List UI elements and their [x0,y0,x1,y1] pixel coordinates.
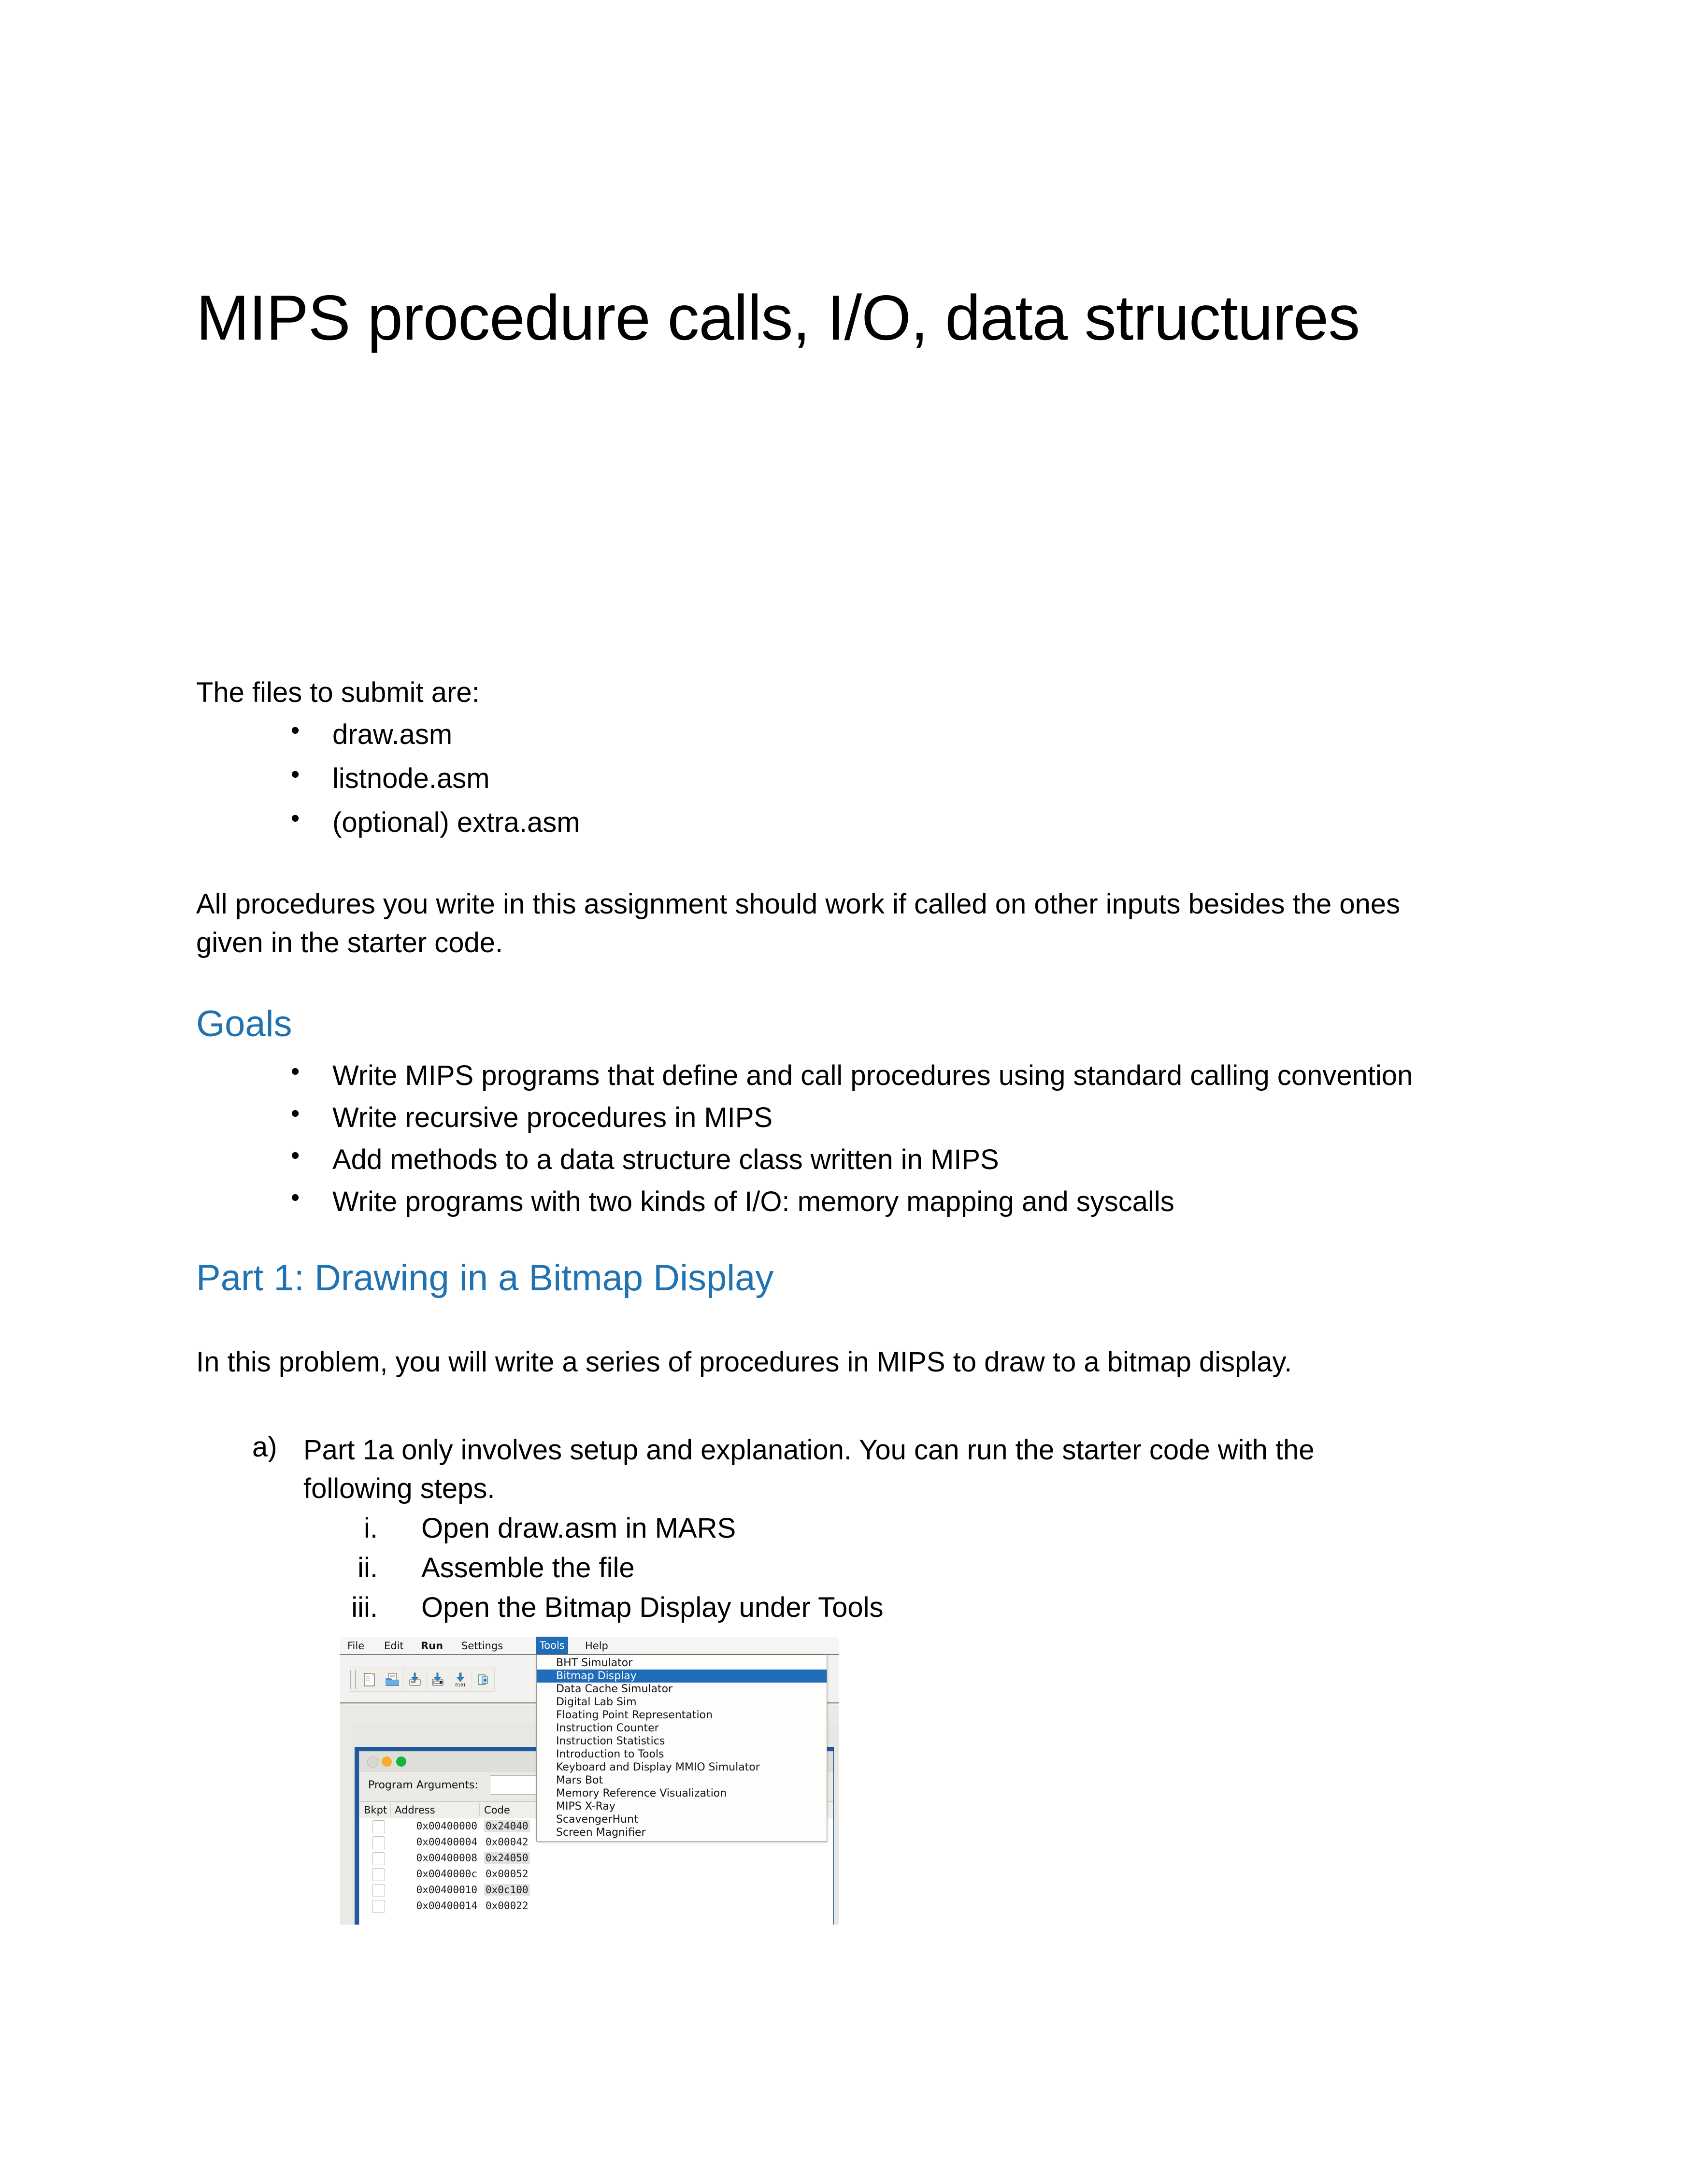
breakpoint-checkbox[interactable] [372,1836,385,1849]
menu-item-introduction-to-tools[interactable]: Introduction to Tools [537,1748,827,1761]
menu-file[interactable]: File [344,1639,368,1653]
window-maximize-icon[interactable] [396,1756,406,1767]
intro-line: The files to submit are: [196,676,480,709]
part1-intro-paragraph: In this problem, you will write a series… [196,1343,1292,1382]
table-row[interactable]: 0x0040000c 0x00052 [359,1866,833,1882]
cell-code: 0x00022 [484,1900,530,1912]
menu-item-mips-x-ray[interactable]: MIPS X-Ray [537,1800,827,1813]
list-marker-a: a) [252,1431,277,1463]
program-arguments-label: Program Arguments: [368,1779,478,1791]
list-marker-i: i. [320,1512,378,1544]
cell-address: 0x0040000c [400,1868,477,1880]
window-minimize-icon[interactable] [382,1756,392,1767]
column-header-bkpt: Bkpt [364,1804,387,1816]
breakpoint-checkbox[interactable] [372,1900,385,1913]
list-item-a-text: Part 1a only involves setup and explanat… [303,1431,1383,1508]
list-item: (optional) extra.asm [291,809,580,837]
column-header-code: Code [484,1804,510,1816]
menu-item-instruction-statistics[interactable]: Instruction Statistics [537,1735,827,1748]
all-procedures-paragraph: All procedures you write in this assignm… [196,885,1443,962]
menu-item-digital-lab-sim[interactable]: Digital Lab Sim [537,1696,827,1709]
menu-help[interactable]: Help [582,1639,612,1653]
menu-item-mars-bot[interactable]: Mars Bot [537,1774,827,1787]
list-marker-iii: iii. [320,1591,378,1624]
menu-settings[interactable]: Settings [458,1639,506,1653]
cell-address: 0x00400000 [400,1820,477,1832]
list-item: draw.asm [291,721,580,749]
menu-item-bitmap-display[interactable]: Bitmap Display [537,1670,827,1683]
ordered-sublist-roman: i. Open draw.asm in MARS ii. Assemble th… [320,1512,1334,1631]
save-all-binary-icon[interactable]: 0101 [449,1669,472,1690]
list-item: ii. Assemble the file [320,1552,1334,1591]
window-close-icon[interactable] [367,1756,378,1768]
ordered-list-item-a: a) Part 1a only involves setup and expla… [252,1431,1383,1508]
list-item: Write MIPS programs that define and call… [291,1062,1413,1090]
menu-item-screen-magnifier[interactable]: Screen Magnifier [537,1826,827,1839]
mars-screenshot-image: File Edit Run Settings Tools Help [340,1637,839,1925]
cell-address: 0x00400008 [400,1852,477,1864]
cell-code: 0x24050 [484,1852,530,1864]
menu-item-memory-reference-visualization[interactable]: Memory Reference Visualization [537,1787,827,1800]
list-item-text: Assemble the file [421,1552,635,1584]
toolbar-grip-handle[interactable] [350,1670,356,1689]
cell-code: 0x00052 [484,1868,530,1880]
cell-address: 0x00400010 [400,1884,477,1896]
cell-code: 0x24040 [484,1820,530,1832]
cell-address: 0x00400014 [400,1900,477,1912]
save-as-icon[interactable] [427,1669,449,1690]
menu-item-instruction-counter[interactable]: Instruction Counter [537,1722,827,1735]
page-title: MIPS procedure calls, I/O, data structur… [196,286,1359,350]
column-divider [390,1803,391,1816]
list-item-text: Open the Bitmap Display under Tools [421,1591,883,1624]
cell-address: 0x00400004 [400,1836,477,1848]
menu-item-data-cache-simulator[interactable]: Data Cache Simulator [537,1683,827,1696]
column-header-address: Address [395,1804,435,1816]
breakpoint-checkbox[interactable] [372,1868,385,1881]
goals-list: Write MIPS programs that define and call… [196,1062,1413,1230]
list-item: listnode.asm [291,765,580,793]
save-icon[interactable] [404,1669,427,1690]
toolbar-binary-label: 0101 [455,1683,466,1687]
list-item: Add methods to a data structure class wr… [291,1146,1413,1174]
menu-run[interactable]: Run [417,1639,446,1653]
goals-heading: Goals [196,1006,292,1042]
toolbar-button-group: 0101 [350,1668,495,1692]
breakpoint-checkbox[interactable] [372,1852,385,1865]
list-marker-ii: ii. [320,1552,378,1584]
list-item-text: Open draw.asm in MARS [421,1512,736,1544]
menu-item-bht-simulator[interactable]: BHT Simulator [537,1656,827,1670]
menu-item-keyboard-display-mmio[interactable]: Keyboard and Display MMIO Simulator [537,1761,827,1774]
table-row[interactable]: 0x00400010 0x0c100 [359,1882,833,1898]
breakpoint-checkbox[interactable] [372,1884,385,1897]
cell-code: 0x00042 [484,1836,530,1848]
breakpoint-checkbox[interactable] [372,1820,385,1833]
dump-memory-icon[interactable] [472,1669,494,1690]
column-divider [479,1803,480,1816]
document-page: MIPS procedure calls, I/O, data structur… [0,0,1688,2184]
menu-edit[interactable]: Edit [381,1639,407,1653]
cell-code: 0x0c100 [484,1884,530,1896]
menu-item-scavenger-hunt[interactable]: ScavengerHunt [537,1813,827,1826]
menu-tools[interactable]: Tools [536,1637,568,1654]
list-item: iii. Open the Bitmap Display under Tools [320,1591,1334,1631]
table-row[interactable]: 0x00400014 0x00022 [359,1898,833,1914]
list-item: i. Open draw.asm in MARS [320,1512,1334,1552]
open-folder-icon[interactable] [381,1669,404,1690]
list-item: Write recursive procedures in MIPS [291,1104,1413,1132]
menu-item-floating-point[interactable]: Floating Point Representation [537,1709,827,1722]
part1-heading: Part 1: Drawing in a Bitmap Display [196,1260,773,1297]
files-to-submit-list: draw.asm listnode.asm (optional) extra.a… [196,721,580,853]
tools-dropdown-menu: BHT Simulator Bitmap Display Data Cache … [536,1654,827,1841]
table-row[interactable]: 0x00400008 0x24050 [359,1850,833,1866]
list-item: Write programs with two kinds of I/O: me… [291,1188,1413,1216]
new-file-icon[interactable] [358,1669,381,1690]
mars-menubar: File Edit Run Settings Tools Help [340,1637,839,1655]
